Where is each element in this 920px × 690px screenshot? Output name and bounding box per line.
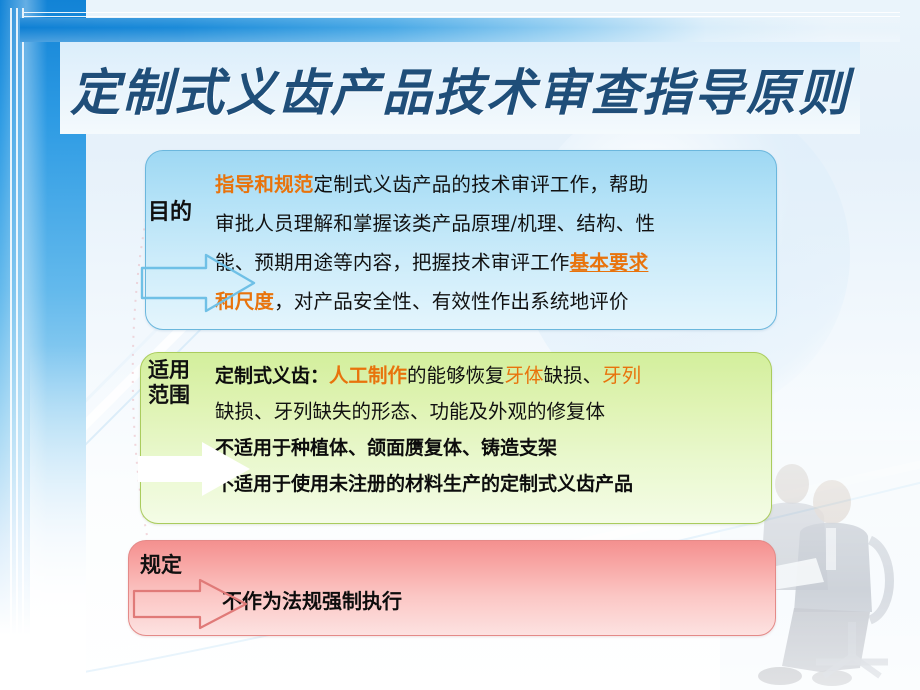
section-purpose-label: 目的 <box>148 200 218 226</box>
left-accent-line-1 <box>10 8 12 690</box>
arrow-right-outline-icon <box>140 252 258 314</box>
section-scope-text: 定制式义齿：人工制作的能够恢复牙体缺损、牙列缺损、牙列缺失的形态、功能及外观的修… <box>215 358 763 502</box>
top-bar-fade <box>20 18 900 42</box>
section-purpose-text: 指导和规范定制式义齿产品的技术审评工作，帮助审批人员理解和掌握该类产品原理/机理… <box>215 165 765 321</box>
section-rule-text: 不作为法规强制执行 <box>222 586 742 616</box>
section-scope-label: 适用范围 <box>148 358 210 408</box>
section-rule-label: 规定 <box>140 553 210 578</box>
top-accent-line-2 <box>24 16 900 17</box>
left-accent-line-2 <box>16 8 18 690</box>
page-title: 定制式义齿产品技术审查指导原则 <box>70 45 870 133</box>
top-accent-line-1 <box>24 12 900 13</box>
slide-canvas: 定制式义齿产品技术审查指导原则 目的 指导和规范定制式义齿产品的技术审评工作，帮… <box>0 0 920 690</box>
arrow-right-outline-pink-icon <box>132 578 250 630</box>
left-accent-line-3 <box>22 8 24 690</box>
arrow-right-solid-icon <box>136 438 254 500</box>
